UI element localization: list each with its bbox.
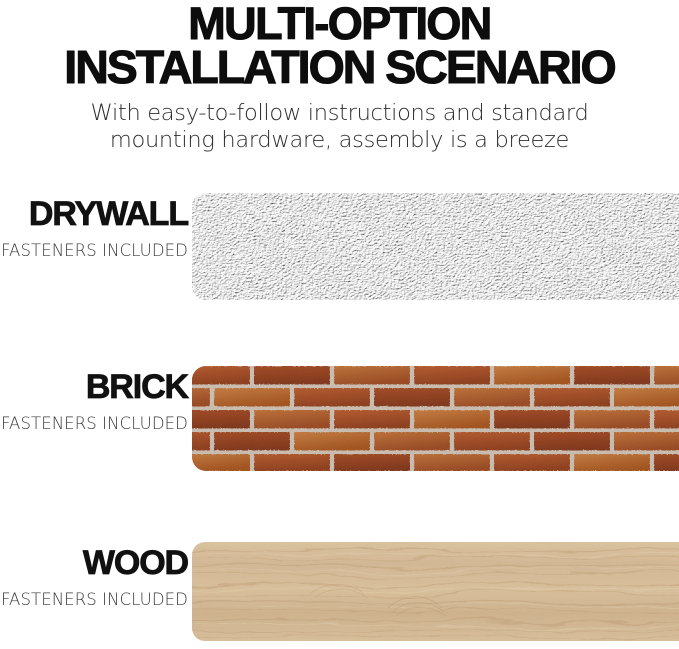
section-wood: WOOD FASTENERS INCLUDED (0, 534, 679, 649)
drywall-surface-texture (192, 193, 679, 300)
header: MULTI-OPTION INSTALLATION SCENARIO With … (0, 0, 679, 155)
brick-label-column: BRICK FASTENERS INCLUDED (0, 358, 188, 478)
page-title: MULTI-OPTION INSTALLATION SCENARIO (0, 2, 679, 90)
fasteners-included-wood: FASTENERS INCLUDED (0, 580, 188, 609)
brick-surface-texture (192, 366, 679, 471)
drywall-label-column: DRYWALL FASTENERS INCLUDED (0, 185, 188, 305)
subtitle-line-2: mounting hardware, assembly is a breeze (0, 127, 679, 155)
wood-surface-texture (192, 542, 679, 641)
subtitle-line-1: With easy-to-follow instructions and sta… (0, 100, 679, 128)
wood-texture-panel (192, 542, 679, 641)
title-line-2: INSTALLATION SCENARIO (0, 45, 679, 90)
section-brick: BRICK FASTENERS INCLUDED (0, 358, 679, 478)
infographic-page: MULTI-OPTION INSTALLATION SCENARIO With … (0, 0, 679, 649)
fasteners-included-brick: FASTENERS INCLUDED (0, 404, 188, 433)
fasteners-included-drywall: FASTENERS INCLUDED (0, 231, 188, 260)
section-drywall: DRYWALL FASTENERS INCLUDED (0, 185, 679, 305)
page-subtitle: With easy-to-follow instructions and sta… (0, 100, 679, 155)
drywall-texture-panel (192, 193, 679, 300)
material-name-wood: WOOD (0, 534, 188, 580)
wood-label-column: WOOD FASTENERS INCLUDED (0, 534, 188, 649)
material-name-drywall: DRYWALL (0, 185, 188, 231)
material-name-brick: BRICK (0, 358, 188, 404)
brick-texture-panel (192, 366, 679, 471)
